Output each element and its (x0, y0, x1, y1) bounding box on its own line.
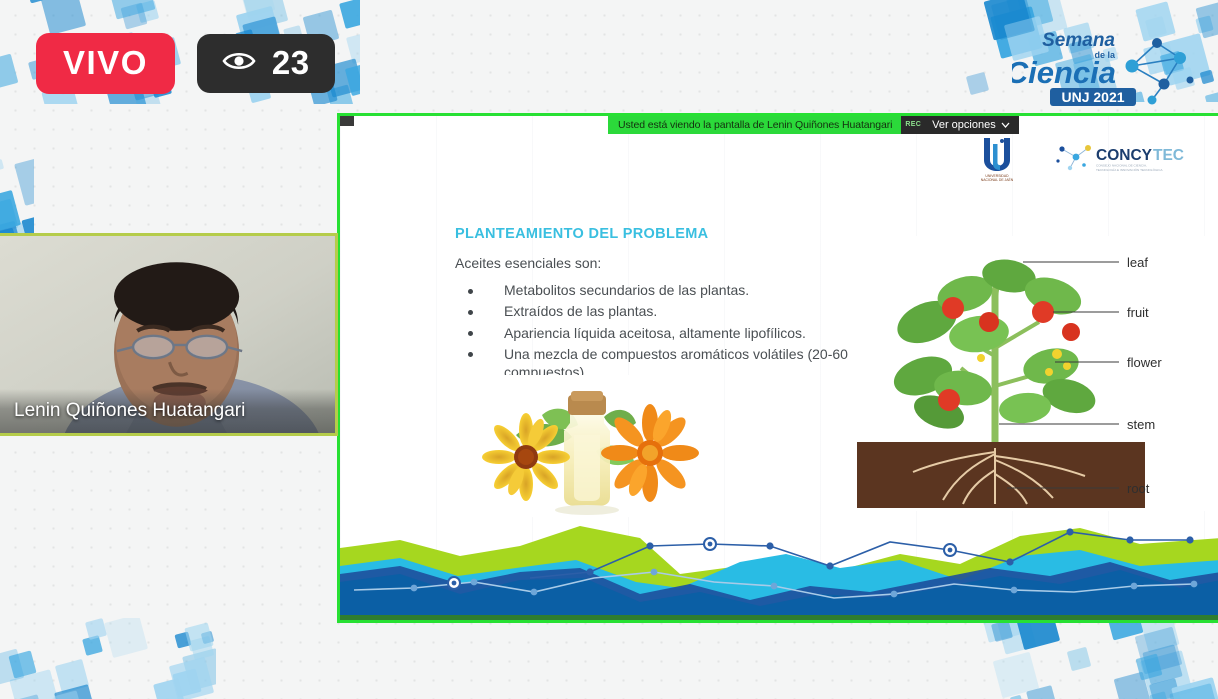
chevron-down-icon (1001, 119, 1010, 131)
shared-screen-container[interactable]: UNIVERSIDAD NACIONAL DE JAÉN CONCY TEC (337, 113, 1218, 623)
slide-bullet-list: Metabolitos secundarios de las plantas. … (468, 282, 868, 385)
list-item: Apariencia líquida aceitosa, altamente l… (468, 325, 868, 343)
concytec-text-dark: CONCY (1096, 147, 1153, 164)
live-badge: VIVO (36, 33, 175, 94)
concytec-tagline1: CONSEJO NACIONAL DE CIENCIA, (1096, 164, 1147, 168)
bullet-text: Extraídos de las plantas. (504, 303, 657, 321)
orange-flower (601, 404, 699, 502)
essential-oil-bottle-photo (464, 375, 709, 517)
yellow-flower (482, 413, 570, 501)
presentation-slide: UNIVERSIDAD NACIONAL DE JAÉN CONCY TEC (340, 116, 1218, 620)
view-options-label: Ver opciones (932, 119, 996, 131)
slide-logos: UNIVERSIDAD NACIONAL DE JAÉN CONCY TEC (972, 134, 1198, 182)
zoom-logo-icon (339, 115, 354, 126)
bullet-dot-icon (468, 289, 473, 294)
event-logo-line1: Semana (1042, 30, 1115, 51)
soil-block (857, 442, 1145, 508)
diagram-label-leaf: leaf (1127, 255, 1148, 270)
viewer-count-value: 23 (272, 46, 310, 79)
recording-badge: REC (901, 115, 925, 134)
viewer-count-badge: 23 (197, 34, 335, 93)
concytec-logo: CONCY TEC CONSEJO NACIONAL DE CIENCIA, T… (1052, 141, 1198, 175)
slide-intro-text: Aceites esenciales son: (455, 255, 601, 271)
broadcast-status-bar: VIVO 23 (36, 33, 335, 94)
unj-logo-line2: NACIONAL DE JAÉN (981, 177, 1014, 182)
list-item: Metabolitos secundarios de las plantas. (468, 282, 868, 300)
bullet-dot-icon (468, 331, 473, 336)
concytec-tagline2: TECNOLOGÍA E INNOVACIÓN TECNOLÓGICA (1096, 167, 1164, 172)
slide-title: PLANTEAMIENTO DEL PROBLEMA (455, 226, 708, 242)
diagram-label-root: root (1127, 481, 1150, 496)
plant-anatomy-diagram: leaf fruit flower stem root (857, 236, 1207, 511)
view-options-button[interactable]: Ver opciones (925, 115, 1019, 134)
event-logo-line4: UNJ 2021 (1061, 89, 1124, 105)
diagram-label-fruit: fruit (1127, 305, 1149, 320)
bullet-dot-icon (468, 310, 473, 315)
bullet-text: Metabolitos secundarios de las plantas. (504, 282, 749, 300)
screen-share-bar: Usted está viendo la pantalla de Lenin Q… (608, 115, 1019, 134)
unj-logo: UNIVERSIDAD NACIONAL DE JAÉN (972, 134, 1022, 182)
share-status-message: Usted está viendo la pantalla de Lenin Q… (608, 115, 901, 134)
event-logo-line3: Ciencia (1012, 55, 1116, 90)
eye-icon (222, 50, 256, 76)
slide-bottom-strip (340, 615, 1218, 620)
concytec-text-light: TEC (1153, 147, 1184, 164)
decorative-wave-chart (340, 510, 1218, 620)
concytec-nodes-icon (1056, 145, 1091, 170)
diagram-label-stem: stem (1127, 417, 1155, 432)
presenter-name-label: Lenin Quiñones Huatangari (0, 389, 335, 433)
bullet-text: Apariencia líquida aceitosa, altamente l… (504, 325, 806, 343)
bullet-dot-icon (468, 352, 473, 357)
list-item: Extraídos de las plantas. (468, 303, 868, 321)
event-logo: Semana de la Ciencia UNJ 2021 (1012, 18, 1202, 113)
diagram-label-flower: flower (1127, 355, 1162, 370)
webcam-panel[interactable]: Lenin Quiñones Huatangari (0, 233, 338, 436)
